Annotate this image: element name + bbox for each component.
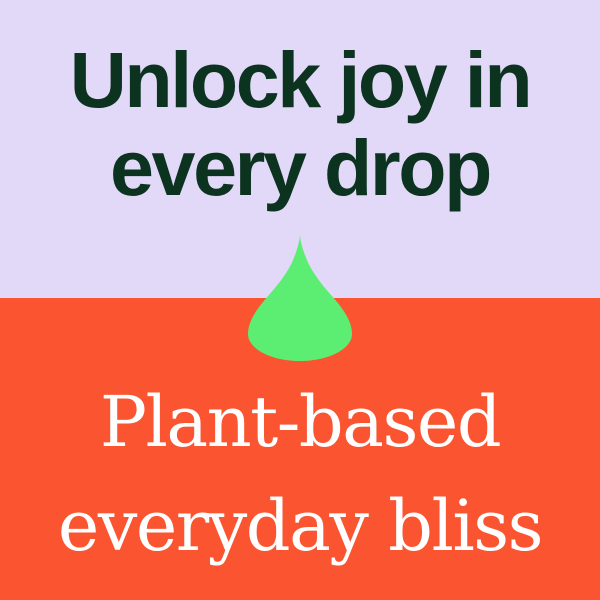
headline-line-2: every drop — [0, 124, 600, 212]
subhead-line-2: everyday bliss — [0, 474, 600, 578]
headline-line-1: Unlock joy in — [0, 36, 600, 124]
subhead-line-1: Plant-based — [0, 370, 600, 474]
promo-poster: Unlock joy in every drop Plant-based eve… — [0, 0, 600, 600]
subhead: Plant-based everyday bliss — [0, 370, 600, 578]
headline: Unlock joy in every drop — [0, 36, 600, 212]
